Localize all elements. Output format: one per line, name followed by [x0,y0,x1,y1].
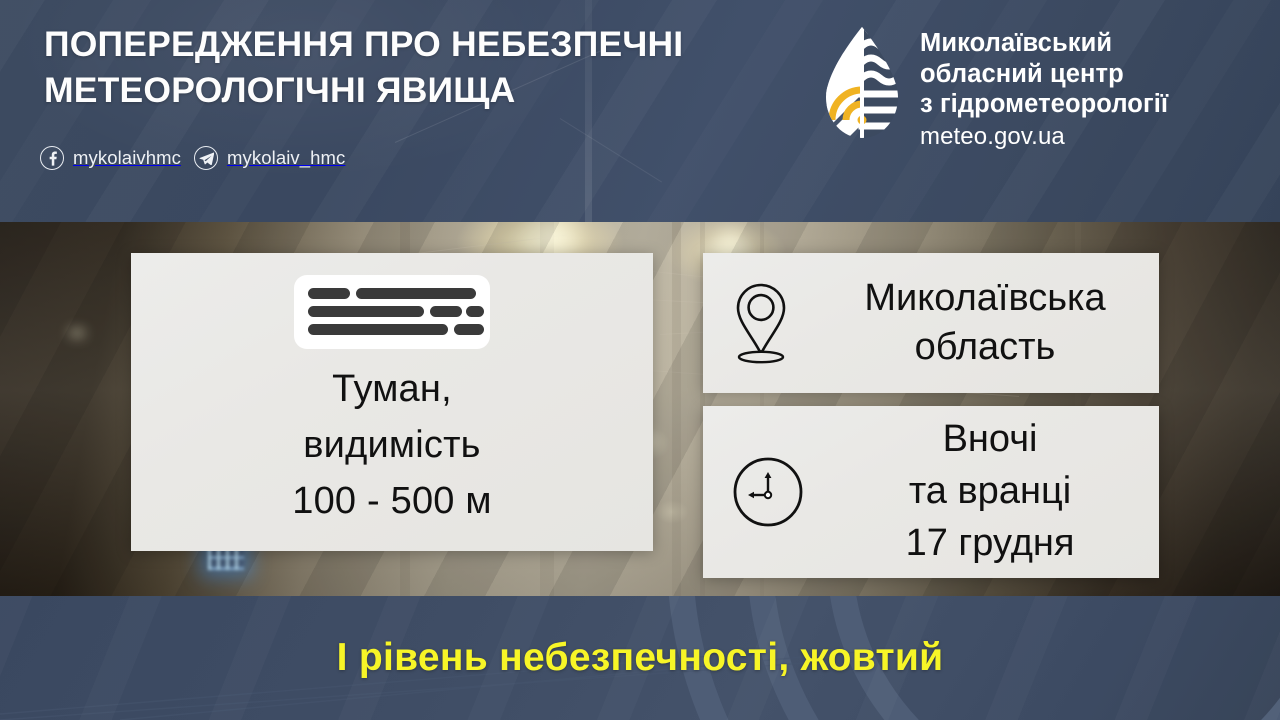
hazard-line-3: 100 - 500 м [292,473,491,529]
telegram-icon [194,146,218,170]
social-handle-facebook: mykolaivhmc [73,147,181,169]
water-drop-logo-icon [818,24,906,142]
organization-logo-block: Миколаївський обласний центр з гідромете… [818,24,1168,153]
hazard-line-2: видимість [292,417,491,473]
page-title: ПОПЕРЕДЖЕННЯ ПРО НЕБЕЗПЕЧНІ МЕТЕОРОЛОГІЧ… [44,22,814,114]
location-pin-icon [729,281,793,365]
region-line-2: область [811,323,1159,372]
time-card: Вночі та вранці 17 грудня [703,406,1159,578]
region-line-1: Миколаївська [811,274,1159,323]
social-links: mykolaivhmc mykolaiv_hmc [40,146,345,170]
header-band: ПОПЕРЕДЖЕННЯ ПРО НЕБЕЗПЕЧНІ МЕТЕОРОЛОГІЧ… [0,0,1280,222]
warning-level-banner: I рівень небезпечності, жовтий [0,596,1280,720]
logo-line-3: з гідрометеорології [920,89,1168,120]
time-line-3: 17 грудня [821,518,1159,570]
warning-level-text: I рівень небезпечності, жовтий [337,636,944,680]
footer-band: I рівень небезпечності, жовтий [0,596,1280,720]
hazard-card: Туман, видимість 100 - 500 м [131,253,653,551]
time-line-1: Вночі [821,414,1159,466]
logo-line-1: Миколаївський [920,28,1168,59]
time-description: Вночі та вранці 17 грудня [821,414,1159,569]
social-handle-telegram: mykolaiv_hmc [227,147,345,169]
logo-website-url: meteo.gov.ua [920,120,1168,153]
region-card: Миколаївська область [703,253,1159,393]
facebook-icon [40,146,64,170]
organization-name: Миколаївський обласний центр з гідромете… [920,24,1168,153]
page-title-line-2: МЕТЕОРОЛОГІЧНІ ЯВИЩА [44,68,814,114]
fog-icon [294,275,490,349]
clock-icon [731,455,805,529]
region-name: Миколаївська область [811,274,1159,373]
page-title-line-1: ПОПЕРЕДЖЕННЯ ПРО НЕБЕЗПЕЧНІ [44,24,683,64]
hazard-description: Туман, видимість 100 - 500 м [292,361,491,530]
social-link-facebook[interactable]: mykolaivhmc [40,146,181,170]
logo-line-2: обласний центр [920,59,1168,90]
infographic-canvas: ПОПЕРЕДЖЕННЯ ПРО НЕБЕЗПЕЧНІ МЕТЕОРОЛОГІЧ… [0,0,1280,720]
social-link-telegram[interactable]: mykolaiv_hmc [194,146,345,170]
hazard-line-1: Туман, [292,361,491,417]
time-line-2: та вранці [821,466,1159,518]
